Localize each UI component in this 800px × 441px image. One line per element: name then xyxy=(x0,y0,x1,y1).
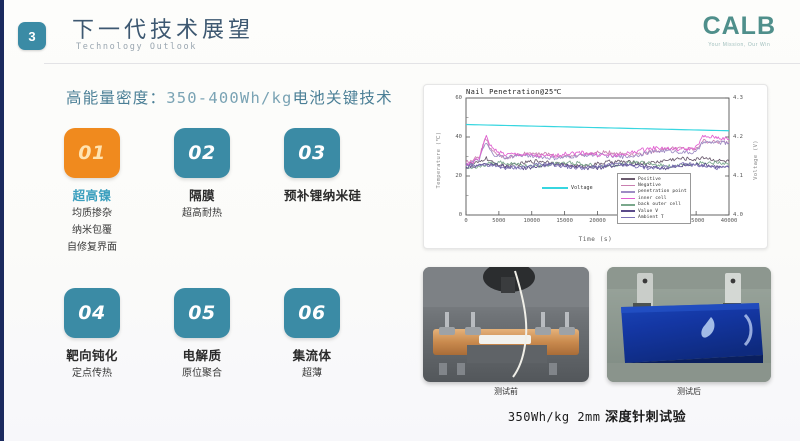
tech-card-title-01: 超高镍 xyxy=(64,185,120,204)
photo-before xyxy=(423,267,589,382)
chart-y2-tick: 4.0 xyxy=(733,212,755,218)
chart-y2-tick: 4.2 xyxy=(733,134,755,140)
chart-x-tick: 5000 xyxy=(482,218,516,224)
photo-after xyxy=(607,267,771,382)
tech-card-05[interactable]: 05电解质原位聚合 xyxy=(174,288,230,381)
chart-y-tick: 20 xyxy=(440,173,462,179)
tech-card-04[interactable]: 04靶向钝化定点传热 xyxy=(64,288,120,381)
legend-label-voltage: Voltage xyxy=(571,185,593,191)
logo-wordmark: CALB xyxy=(703,12,776,41)
brand-logo: CALB Your Mission, Our Win xyxy=(703,12,776,48)
tech-card-title-02: 隔膜 xyxy=(174,185,230,204)
chart-y2-tick: 4.3 xyxy=(733,95,755,101)
section-heading-value: 350-400Wh/kg xyxy=(166,89,292,107)
page-title: 下一代技术展望 xyxy=(72,12,254,44)
photo-before-wrap: 测试前 xyxy=(423,267,589,397)
tech-card-title-05: 电解质 xyxy=(174,345,230,364)
chart-x-tick: 15000 xyxy=(548,218,582,224)
tech-card-02[interactable]: 02隔膜超高耐热 xyxy=(174,128,230,221)
page-subtitle: Technology Outlook xyxy=(76,42,197,52)
chart-x-tick: 20000 xyxy=(581,218,615,224)
tech-card-number-04: 04 xyxy=(78,302,105,324)
legend-row: Ambient T xyxy=(621,214,687,220)
photo-after-caption: 测试后 xyxy=(607,386,771,397)
tech-card-number-06: 06 xyxy=(298,302,325,324)
chart-plot xyxy=(424,85,769,250)
chart-inner: Nail Penetration@25℃ Temperature (℃) Vol… xyxy=(424,85,767,248)
slide-root: 3 下一代技术展望 Technology Outlook CALB Your M… xyxy=(0,0,800,441)
tech-card-title-06: 集流体 xyxy=(284,345,340,364)
chart-x-tick: 0 xyxy=(449,218,483,224)
tech-card-06[interactable]: 06集流体超薄 xyxy=(284,288,340,381)
legend-label: inner cell xyxy=(638,196,667,201)
legend-label: Negative xyxy=(638,183,661,188)
logo-tagline: Your Mission, Our Win xyxy=(703,42,776,48)
tech-card-tile-06: 06 xyxy=(284,288,340,338)
legend-swatch xyxy=(621,204,635,206)
tech-card-sub-06-0: 超薄 xyxy=(284,367,340,381)
legend-swatch xyxy=(621,185,635,187)
legend-label: Ambient T xyxy=(638,215,664,220)
tech-card-sub-02-0: 超高耐热 xyxy=(174,207,230,221)
photo-before-caption: 测试前 xyxy=(423,386,589,397)
tech-card-tile-03: 03 xyxy=(284,128,340,178)
slide-number-badge: 3 xyxy=(18,22,46,50)
legend-swatch xyxy=(621,210,635,212)
slide-header: 3 下一代技术展望 Technology Outlook CALB Your M… xyxy=(4,0,800,64)
legend-swatch xyxy=(621,191,635,193)
section-heading-prefix: 高能量密度： xyxy=(66,89,166,107)
chart-title: Nail Penetration@25℃ xyxy=(466,88,562,96)
tech-card-tile-04: 04 xyxy=(64,288,120,338)
legend-label: Value V xyxy=(638,209,658,214)
legend-label: back outer cell xyxy=(638,202,681,207)
chart-x-tick: 10000 xyxy=(515,218,549,224)
tech-card-number-01: 01 xyxy=(78,142,105,164)
tech-card-tile-02: 02 xyxy=(174,128,230,178)
photos-caption-text: 深度针刺试验 xyxy=(605,410,686,425)
nail-penetration-chart-panel: Nail Penetration@25℃ Temperature (℃) Vol… xyxy=(423,84,768,249)
photos-caption-spec: 350Wh/kg 2mm xyxy=(508,410,601,424)
chart-y-tick: 60 xyxy=(440,95,462,101)
tech-card-03[interactable]: 03预补锂纳米硅 xyxy=(284,128,340,204)
chart-legend: PositiveNegativepenetration pointinner c… xyxy=(617,173,691,224)
chart-y2-tick: 4.1 xyxy=(733,173,755,179)
tech-card-01[interactable]: 01超高镍均质掺杂纳米包覆自修复界面 xyxy=(64,128,120,255)
tech-card-sub-01-2: 自修复界面 xyxy=(64,241,120,255)
section-heading-suffix: 电池关键技术 xyxy=(293,89,393,107)
header-divider xyxy=(44,63,800,64)
legend-label: Positive xyxy=(638,177,661,182)
tech-card-sub-05-0: 原位聚合 xyxy=(174,367,230,381)
photo-after-wrap: 测试后 xyxy=(607,267,771,397)
tech-card-title-04: 靶向钝化 xyxy=(64,345,120,364)
photo-after-image xyxy=(607,267,771,382)
legend-swatch xyxy=(621,217,635,219)
tech-card-title-03: 预补锂纳米硅 xyxy=(284,185,340,204)
chart-y-tick: 40 xyxy=(440,134,462,140)
photo-before-image xyxy=(423,267,589,382)
legend-label: penetration point xyxy=(638,189,687,194)
photos-caption: 350Wh/kg 2mm 深度针刺试验 xyxy=(423,406,771,425)
legend-swatch-voltage xyxy=(542,187,568,189)
legend-swatch xyxy=(621,178,635,180)
tech-card-tile-05: 05 xyxy=(174,288,230,338)
tech-card-sub-04-0: 定点传热 xyxy=(64,367,120,381)
tech-card-number-05: 05 xyxy=(188,302,215,324)
tech-card-number-03: 03 xyxy=(298,142,325,164)
tech-card-number-02: 02 xyxy=(188,142,215,164)
chart-x-axis-label: Time (s) xyxy=(424,236,767,243)
section-heading: 高能量密度：350-400Wh/kg电池关键技术 xyxy=(66,86,393,108)
legend-swatch xyxy=(621,198,635,200)
chart-y-tick: 0 xyxy=(440,212,462,218)
tech-card-sub-01-1: 纳米包覆 xyxy=(64,224,120,238)
chart-legend-voltage: Voltage xyxy=(542,185,593,191)
tech-card-sub-01-0: 均质掺杂 xyxy=(64,207,120,221)
tech-card-tile-01: 01 xyxy=(64,128,120,178)
chart-x-tick: 40000 xyxy=(712,218,746,224)
